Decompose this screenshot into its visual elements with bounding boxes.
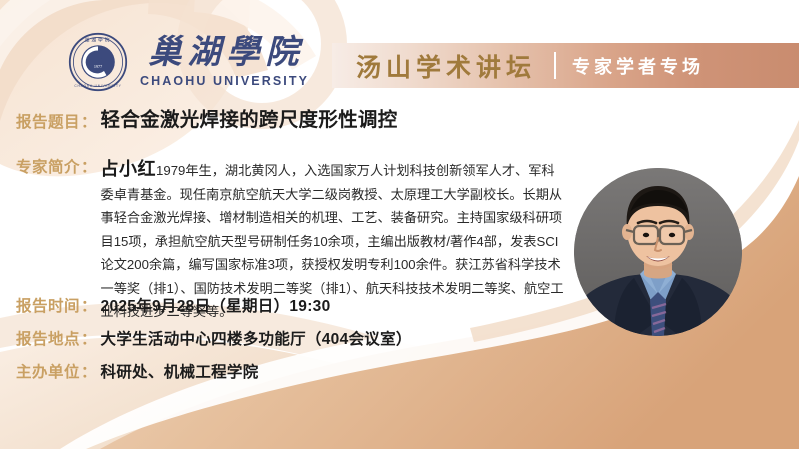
banner-divider	[554, 52, 556, 79]
report-title-colon: ：	[81, 110, 97, 132]
report-title-label: 报告题目	[16, 110, 80, 132]
speaker-portrait	[574, 168, 742, 336]
report-title-value: 轻合金激光焊接的跨尺度形性调控	[101, 110, 398, 131]
svg-text:1977: 1977	[94, 64, 102, 69]
report-time-colon: ：	[81, 294, 97, 316]
report-time-label: 报告时间	[16, 294, 80, 316]
banner-subtitle: 专家学者专场	[572, 53, 704, 79]
report-place-value: 大学生活动中心四楼多功能厅（404会议室）	[101, 327, 412, 349]
lecture-poster: 1977 巢湖學院 CHAOHU UNIVERSITY 巢湖學院 CHAOHU …	[0, 0, 799, 449]
university-name-en: CHAOHU UNIVERSITY	[138, 75, 309, 88]
university-name-cn: 巢湖學院	[143, 37, 305, 70]
report-host-label: 主办单位	[16, 360, 80, 382]
speaker-bio-label: 专家简介	[16, 155, 80, 177]
banner-title: 汤山学术讲坛	[356, 48, 536, 84]
report-title-row: 报告题目 ： 轻合金激光焊接的跨尺度形性调控	[16, 110, 398, 132]
report-place-row: 报告地点 ： 大学生活动中心四楼多功能厅（404会议室）	[16, 327, 412, 349]
report-host-colon: ：	[81, 360, 97, 382]
speaker-bio-colon: ：	[81, 155, 97, 177]
report-place-colon: ：	[81, 327, 97, 349]
report-host-value: 科研处、机械工程学院	[101, 360, 259, 382]
poster-header: 1977 巢湖學院 CHAOHU UNIVERSITY 巢湖學院 CHAOHU …	[0, 0, 799, 104]
chaohu-university-seal-icon: 1977 巢湖學院 CHAOHU UNIVERSITY	[68, 32, 128, 92]
report-place-label: 报告地点	[16, 327, 80, 349]
university-logo: 1977 巢湖學院 CHAOHU UNIVERSITY 巢湖學院 CHAOHU …	[68, 32, 309, 92]
report-host-row: 主办单位 ： 科研处、机械工程学院	[16, 360, 259, 382]
event-banner: 汤山学术讲坛 专家学者专场	[332, 43, 799, 88]
report-time-value: 2025年9月28日（星期日）19:30	[101, 294, 331, 316]
report-time-row: 报告时间 ： 2025年9月28日（星期日）19:30	[16, 294, 331, 316]
speaker-name: 占小红	[101, 159, 157, 179]
svg-text:CHAOHU UNIVERSITY: CHAOHU UNIVERSITY	[74, 84, 121, 88]
